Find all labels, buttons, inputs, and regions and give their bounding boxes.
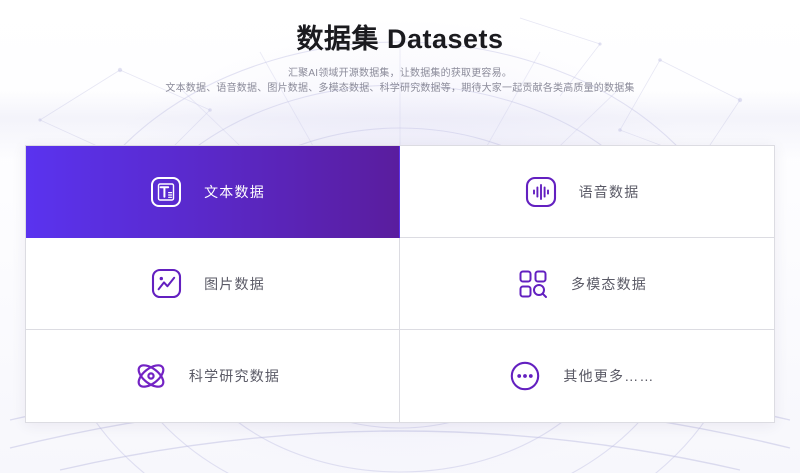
audio-waveform-icon [523,174,559,210]
grid-cell-label: 图片数据 [204,274,265,294]
grid-cell-label: 其他更多…… [563,366,654,386]
grid-cell-other-more[interactable]: 其他更多…… [400,330,774,422]
grid-search-icon [515,266,551,302]
subtitle-line-1: 汇聚AI领域开源数据集，让数据集的获取更容易。 [0,66,800,81]
grid-cell-label: 多模态数据 [571,274,647,294]
grid-cell-image-data[interactable]: 图片数据 [26,238,400,330]
page-root: 数据集 Datasets 汇聚AI领域开源数据集，让数据集的获取更容易。 文本数… [0,0,800,473]
page-subtitle: 汇聚AI领域开源数据集，让数据集的获取更容易。 文本数据、语音数据、图片数据、多… [0,66,800,96]
page-title: 数据集 Datasets [0,22,800,56]
grid-cell-scientific-research-data[interactable]: 科学研究数据 [26,330,400,422]
grid-cell-label: 科学研究数据 [189,366,280,386]
atom-icon [133,358,169,394]
ellipsis-circle-icon [507,358,543,394]
grid-cell-multimodal-data[interactable]: 多模态数据 [400,238,774,330]
picture-icon [148,266,184,302]
grid-cell-label: 语音数据 [579,182,640,202]
subtitle-line-2: 文本数据、语音数据、图片数据、多模态数据、科学研究数据等，期待大家一起贡献各类高… [0,81,800,96]
grid-cell-speech-data[interactable]: 语音数据 [400,146,774,238]
grid-cell-label: 文本数据 [204,182,265,202]
page-header: 数据集 Datasets 汇聚AI领域开源数据集，让数据集的获取更容易。 文本数… [0,0,800,96]
dataset-category-grid: 文本数据 语音数 [25,145,775,423]
grid-cell-text-data[interactable]: 文本数据 [26,146,400,238]
text-document-icon [148,174,184,210]
